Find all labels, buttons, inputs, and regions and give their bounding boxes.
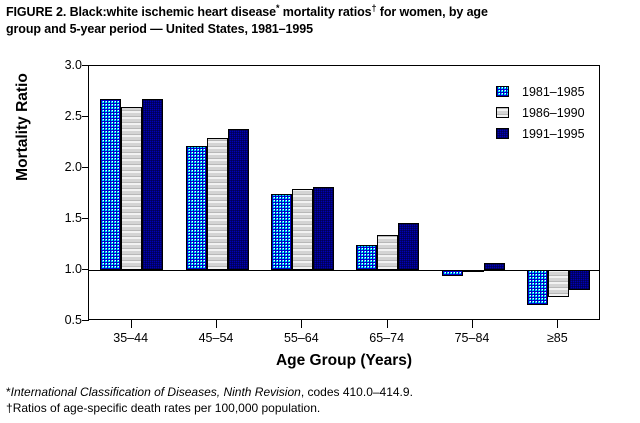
legend: 1981–19851986–19901991–1995 bbox=[496, 81, 585, 144]
x-axis-title: Age Group (Years) bbox=[88, 352, 600, 370]
footnote-2: †Ratios of age-specific death rates per … bbox=[6, 400, 634, 416]
footnote-italic-text: International Classification of Diseases… bbox=[11, 385, 301, 399]
y-axis-tick-label: 2.0 bbox=[52, 160, 82, 174]
legend-label: 1981–1985 bbox=[522, 85, 585, 99]
bar-6574-19911995 bbox=[398, 223, 419, 270]
bar-3544-19911995 bbox=[142, 99, 163, 270]
bar-7584-19811985 bbox=[442, 270, 463, 276]
x-axis-tick-mark bbox=[301, 320, 302, 328]
x-axis-tick-mark bbox=[472, 320, 473, 328]
y-axis-tick-label: 0.5 bbox=[52, 313, 82, 327]
legend-swatch-icon bbox=[496, 86, 509, 97]
bar-6574-19811985 bbox=[356, 245, 377, 271]
footnote-text: , codes 410.0–414.9. bbox=[301, 385, 413, 399]
bar-7584-19861990 bbox=[463, 270, 484, 272]
bar-7584-19911995 bbox=[484, 263, 505, 270]
x-axis-tick-mark bbox=[131, 320, 132, 328]
footnote-marker: † bbox=[6, 401, 13, 415]
x-axis-tick-label: 35–44 bbox=[91, 331, 171, 345]
y-axis-tick-label: 1.0 bbox=[52, 262, 82, 276]
baseline-reference-line bbox=[89, 270, 599, 271]
bar-3544-19861990 bbox=[121, 107, 142, 270]
bar-85-19861990 bbox=[548, 270, 569, 297]
x-axis-tick-label: ≥85 bbox=[517, 331, 597, 345]
y-axis-title: Mortality Ratio bbox=[14, 42, 32, 212]
legend-item-19811985[interactable]: 1981–1985 bbox=[496, 81, 585, 102]
bar-85-19811985 bbox=[527, 270, 548, 305]
legend-label: 1986–1990 bbox=[522, 106, 585, 120]
bar-6574-19861990 bbox=[377, 235, 398, 270]
bar-3544-19811985 bbox=[100, 99, 121, 270]
x-axis-tick-labels: 35–4445–5455–6465–7475–84≥85 bbox=[88, 331, 600, 349]
bar-5564-19861990 bbox=[292, 189, 313, 270]
x-axis-tick-label: 45–54 bbox=[176, 331, 256, 345]
x-axis-tick-label: 55–64 bbox=[261, 331, 341, 345]
bar-85-19911995 bbox=[569, 270, 590, 290]
x-axis-tick-label: 65–74 bbox=[347, 331, 427, 345]
x-axis-tick-mark bbox=[557, 320, 558, 328]
footnote-1: *International Classification of Disease… bbox=[6, 384, 634, 400]
legend-item-19861990[interactable]: 1986–1990 bbox=[496, 102, 585, 123]
x-axis-tick-mark bbox=[216, 320, 217, 328]
bar-4554-19811985 bbox=[186, 146, 207, 270]
footnote-text: Ratios of age-specific death rates per 1… bbox=[13, 401, 321, 415]
y-axis-tick-label: 1.5 bbox=[52, 211, 82, 225]
legend-swatch-icon bbox=[496, 107, 509, 118]
y-axis-tick-label: 3.0 bbox=[52, 58, 82, 72]
x-axis-tick-label: 75–84 bbox=[432, 331, 512, 345]
y-axis-tick-label: 2.5 bbox=[52, 109, 82, 123]
bar-5564-19911995 bbox=[313, 187, 334, 270]
x-axis-tick-mark bbox=[387, 320, 388, 328]
bar-5564-19811985 bbox=[271, 194, 292, 271]
bar-chart: Mortality Ratio 0.51.01.52.02.53.0 35–44… bbox=[0, 0, 640, 423]
x-axis-tick-marks bbox=[88, 320, 600, 329]
legend-swatch-icon bbox=[496, 128, 509, 139]
bar-4554-19911995 bbox=[228, 129, 249, 270]
legend-label: 1991–1995 bbox=[522, 127, 585, 141]
y-axis-tick-labels: 0.51.01.52.02.53.0 bbox=[50, 65, 82, 320]
legend-item-19911995[interactable]: 1991–1995 bbox=[496, 123, 585, 144]
footnotes: *International Classification of Disease… bbox=[6, 384, 634, 416]
bar-4554-19861990 bbox=[207, 138, 228, 270]
